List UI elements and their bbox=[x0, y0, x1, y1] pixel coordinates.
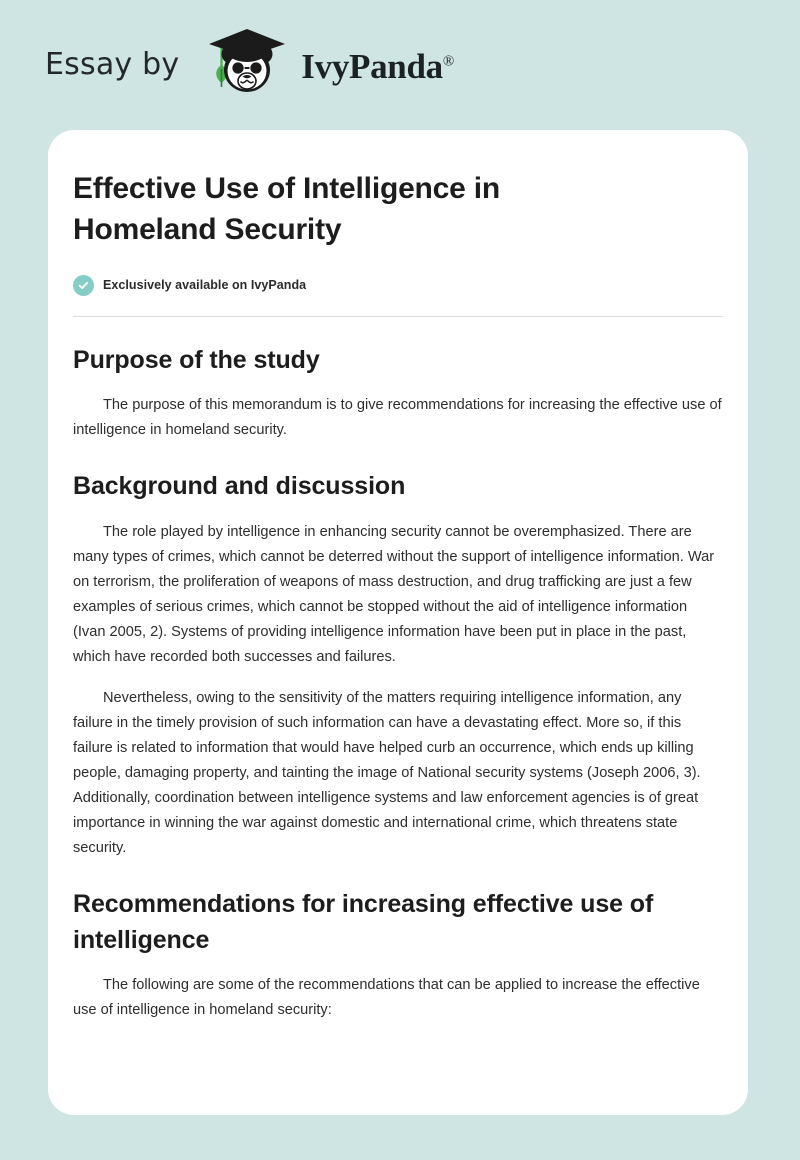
check-circle-icon bbox=[73, 275, 94, 296]
section-paragraph: The purpose of this memorandum is to giv… bbox=[73, 393, 723, 443]
section-paragraph: The role played by intelligence in enhan… bbox=[73, 520, 723, 671]
header-divider bbox=[73, 316, 723, 317]
section-heading-purpose: Purpose of the study bbox=[73, 343, 723, 379]
essay-paper-card: Effective Use of Intelligence in Homelan… bbox=[48, 130, 748, 1115]
page-title: Effective Use of Intelligence in Homelan… bbox=[73, 168, 613, 251]
section-heading-background: Background and discussion bbox=[73, 469, 723, 505]
panda-graduate-logo-icon bbox=[195, 25, 299, 99]
section-heading-recommendations: Recommendations for increasing effective… bbox=[73, 887, 723, 958]
section-paragraph: The following are some of the recommenda… bbox=[73, 973, 723, 1023]
essay-by-label: Essay by bbox=[45, 50, 179, 80]
brand-header: Essay by bbox=[0, 0, 800, 130]
essay-body: Purpose of the study The purpose of this… bbox=[73, 343, 723, 1024]
exclusive-availability-badge: Exclusively available on IvyPanda bbox=[73, 275, 723, 296]
status-badge-label: Exclusively available on IvyPanda bbox=[103, 278, 306, 292]
brand-name-text: IvyPanda bbox=[301, 47, 443, 86]
section-paragraph: Nevertheless, owing to the sensitivity o… bbox=[73, 686, 723, 862]
registered-trademark-icon: ® bbox=[443, 53, 454, 69]
brand-wordmark: IvyPanda® bbox=[301, 49, 454, 84]
